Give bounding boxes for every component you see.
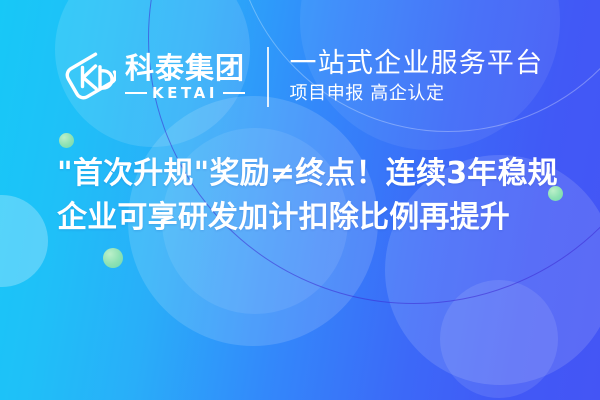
ketai-diamond-monogram-icon bbox=[62, 49, 116, 105]
header-divider bbox=[267, 47, 269, 107]
logo-name-cn: 科泰集团 bbox=[125, 53, 245, 83]
logo-name-en-row: KETAI bbox=[125, 86, 245, 101]
company-logo[interactable]: 科泰集团 KETAI bbox=[62, 49, 245, 105]
decorative-dot-green-lower-left bbox=[103, 248, 123, 268]
logo-rule-left bbox=[125, 92, 147, 95]
decorative-circle-left-edge bbox=[0, 195, 48, 287]
decorative-circle-bottom-right bbox=[440, 280, 558, 398]
brand-header: 科泰集团 KETAI 一站式企业服务平台 项目申报 高企认定 bbox=[0, 44, 600, 110]
logo-name-en: KETAI bbox=[152, 86, 218, 101]
tagline-block: 一站式企业服务平台 项目申报 高企认定 bbox=[290, 49, 544, 106]
logo-wordmark: 科泰集团 KETAI bbox=[125, 53, 245, 100]
tagline-sub: 项目申报 高企认定 bbox=[290, 82, 544, 105]
promo-banner: 科泰集团 KETAI 一站式企业服务平台 项目申报 高企认定 "首次升规"奖励≠… bbox=[0, 0, 600, 400]
decorative-dot-green-upper-left bbox=[59, 133, 74, 148]
tagline-main: 一站式企业服务平台 bbox=[290, 49, 544, 79]
logo-rule-right bbox=[223, 92, 245, 95]
headline-title: "首次升规"奖励≠终点！连续3年稳规企业可享研发加计扣除比例再提升 bbox=[57, 152, 569, 240]
